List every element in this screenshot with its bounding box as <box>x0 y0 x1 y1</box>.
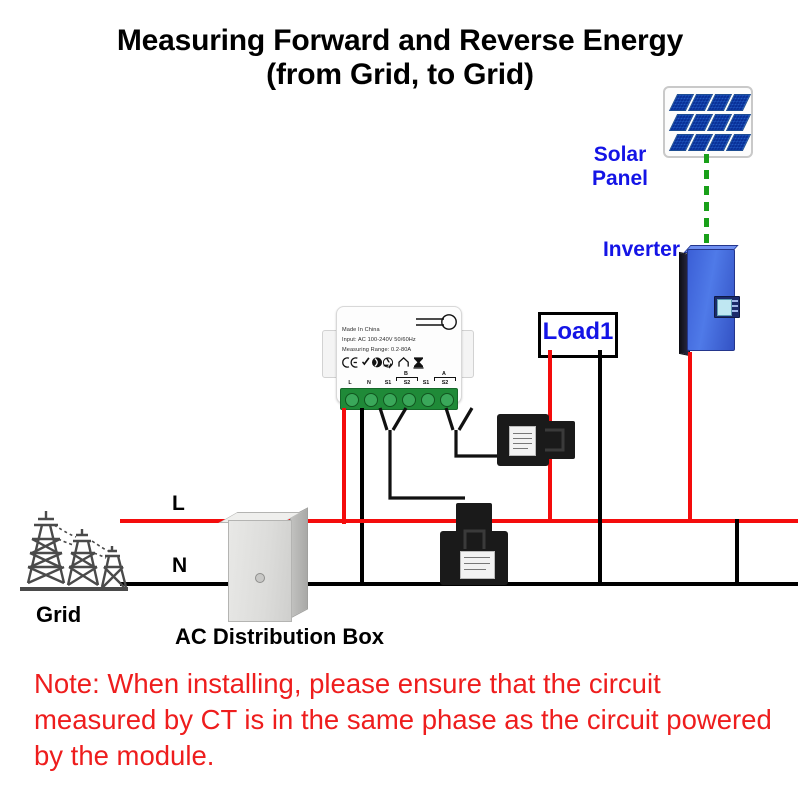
live-line-label: L <box>172 492 185 516</box>
group-a-label: A <box>442 371 446 377</box>
module-neutral-wire <box>360 408 364 586</box>
inverter-lcd-screen <box>717 299 732 316</box>
terminal-block <box>340 388 458 410</box>
ct-clamp-a-label <box>509 426 536 456</box>
module-spec-line-2: Input: AC 100-240V 50/60Hz <box>342 336 416 346</box>
terminal-label-b-s1: S1 <box>385 380 392 386</box>
ce-icon <box>343 358 358 367</box>
installation-note: Note: When installing, please ensure tha… <box>34 666 774 773</box>
inverter-front-face <box>687 249 735 351</box>
grid-label: Grid <box>36 602 81 628</box>
terminal-labels: B A L N S1 S2 S1 S2 <box>340 378 456 388</box>
terminal-label-a-s2: S2 <box>442 380 449 386</box>
module-spec-text: Made In China Input: AC 100-240V 50/60Hz… <box>342 326 416 355</box>
ct-clamp-b-label <box>460 551 495 579</box>
inverter-output-wire <box>688 352 692 521</box>
energy-meter-module: Made In China Input: AC 100-240V 50/60Hz… <box>322 306 474 416</box>
ct-clamp-a-core <box>541 426 571 454</box>
inverter-button <box>732 305 738 307</box>
inverter-label: Inverter <box>588 238 680 262</box>
antenna-icon <box>414 314 460 332</box>
group-b-label: B <box>404 371 408 377</box>
wiring-diagram-canvas: Measuring Forward and Reverse Energy (fr… <box>0 0 800 800</box>
solar-cell-row <box>671 134 747 150</box>
terminal-screw <box>345 393 359 407</box>
pv-dc-link-line <box>704 154 709 250</box>
inverter-display <box>714 296 740 318</box>
load1-label: Load1 <box>541 315 615 349</box>
ct-clamp-a <box>497 414 575 466</box>
inverter-neutral-wire <box>735 519 739 586</box>
certification-icons <box>342 356 428 372</box>
distribution-box-label: AC Distribution Box <box>175 624 384 650</box>
module-spec-line-3: Measuring Range: 0.2-80A <box>342 346 416 356</box>
terminal-label-b-s2: S2 <box>404 380 411 386</box>
inverter-button <box>732 310 738 312</box>
grid-pylons-icon <box>14 505 134 597</box>
solar-panel <box>663 86 753 158</box>
inverter-button <box>732 300 738 302</box>
neutral-line-label: N <box>172 554 187 578</box>
terminal-screw <box>383 393 397 407</box>
ct-clamp-b <box>440 503 508 585</box>
solar-cell-row <box>671 94 747 110</box>
title-line-1: Measuring Forward and Reverse Energy <box>0 24 800 58</box>
module-spec-line-1: Made In China <box>342 326 416 336</box>
terminal-label-a-s1: S1 <box>423 380 430 386</box>
terminal-screw <box>421 393 435 407</box>
module-live-wire <box>342 408 346 524</box>
terminal-screw <box>364 393 378 407</box>
solar-panel-label-line1: Solar <box>594 143 647 166</box>
solar-cell-row <box>671 114 747 130</box>
distribution-box-lock-icon <box>255 573 265 583</box>
page-title: Measuring Forward and Reverse Energy (fr… <box>0 24 800 91</box>
terminal-label-l: L <box>348 380 351 386</box>
distribution-box-front <box>228 520 292 622</box>
ac-distribution-box <box>228 512 306 620</box>
solar-panel-label-line2: Panel <box>592 167 648 190</box>
terminal-screw <box>402 393 416 407</box>
terminal-screw <box>440 393 454 407</box>
solar-panel-label: Solar Panel <box>572 143 668 190</box>
ct-clamp-b-core <box>460 525 490 553</box>
recycle-icon <box>383 358 392 369</box>
inverter <box>679 249 733 357</box>
load1-neutral-wire <box>598 350 602 584</box>
house-icon <box>399 358 408 367</box>
terminal-label-n: N <box>367 380 371 386</box>
weee-bin-icon <box>413 357 423 368</box>
rohs-check-icon <box>362 357 370 365</box>
distribution-box-side <box>290 507 308 619</box>
circle-arrow-icon <box>372 357 382 367</box>
